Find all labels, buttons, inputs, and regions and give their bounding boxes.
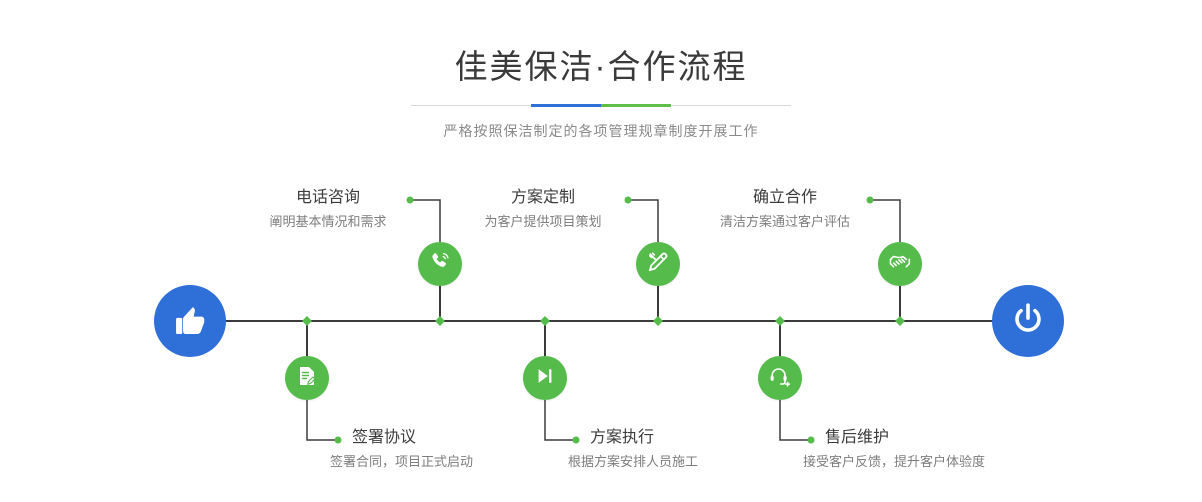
handshake-icon bbox=[888, 250, 912, 279]
flow-title-step-1: 电话咨询 bbox=[246, 188, 410, 208]
flow-node-step-1[interactable] bbox=[418, 242, 462, 286]
flow-title-step-4: 方案执行 bbox=[568, 428, 788, 448]
flow-node-step-5[interactable] bbox=[878, 242, 922, 286]
flow-desc-step-3: 为客户提供项目策划 bbox=[458, 212, 628, 232]
flow-desc-step-1: 阐明基本情况和需求 bbox=[246, 212, 410, 232]
process-flow-diagram: 电话咨询 阐明基本情况和需求 签署协议 签署合同，项目正式启动 方案定制 bbox=[0, 0, 1202, 502]
flow-desc-step-5: 清洁方案通过客户评估 bbox=[700, 212, 870, 232]
flow-label-step-5: 确立合作 清洁方案通过客户评估 bbox=[700, 188, 870, 232]
flow-title-step-5: 确立合作 bbox=[700, 188, 870, 208]
flow-node-step-2[interactable] bbox=[285, 356, 329, 400]
flow-label-step-4: 方案执行 根据方案安排人员施工 bbox=[568, 428, 788, 472]
flow-label-step-6: 售后维护 接受客户反馈，提升客户体验度 bbox=[803, 428, 1063, 472]
flow-label-step-1: 电话咨询 阐明基本情况和需求 bbox=[246, 188, 410, 232]
flow-title-step-2: 签署协议 bbox=[330, 428, 530, 448]
thumbs-up-icon bbox=[171, 300, 209, 343]
phone-call-icon bbox=[428, 250, 452, 279]
flow-node-step-3[interactable] bbox=[636, 242, 680, 286]
flow-node-step-6[interactable] bbox=[758, 356, 802, 400]
flow-start-thumbs-up bbox=[154, 285, 226, 357]
flow-label-step-2: 签署协议 签署合同，项目正式启动 bbox=[330, 428, 530, 472]
flow-desc-step-4: 根据方案安排人员施工 bbox=[568, 452, 788, 472]
pen-ruler-icon bbox=[646, 250, 670, 279]
flow-desc-step-2: 签署合同，项目正式启动 bbox=[330, 452, 530, 472]
flow-connectors bbox=[0, 0, 1202, 502]
headset-support-icon bbox=[768, 364, 792, 393]
flow-end-power bbox=[992, 285, 1064, 357]
power-icon bbox=[1010, 301, 1046, 342]
play-forward-icon bbox=[534, 365, 556, 392]
flow-desc-step-6: 接受客户反馈，提升客户体验度 bbox=[803, 452, 1063, 472]
flow-title-step-6: 售后维护 bbox=[803, 428, 1063, 448]
flow-label-step-3: 方案定制 为客户提供项目策划 bbox=[458, 188, 628, 232]
flow-node-step-4[interactable] bbox=[523, 356, 567, 400]
document-edit-icon bbox=[295, 364, 319, 393]
flow-title-step-3: 方案定制 bbox=[458, 188, 628, 208]
